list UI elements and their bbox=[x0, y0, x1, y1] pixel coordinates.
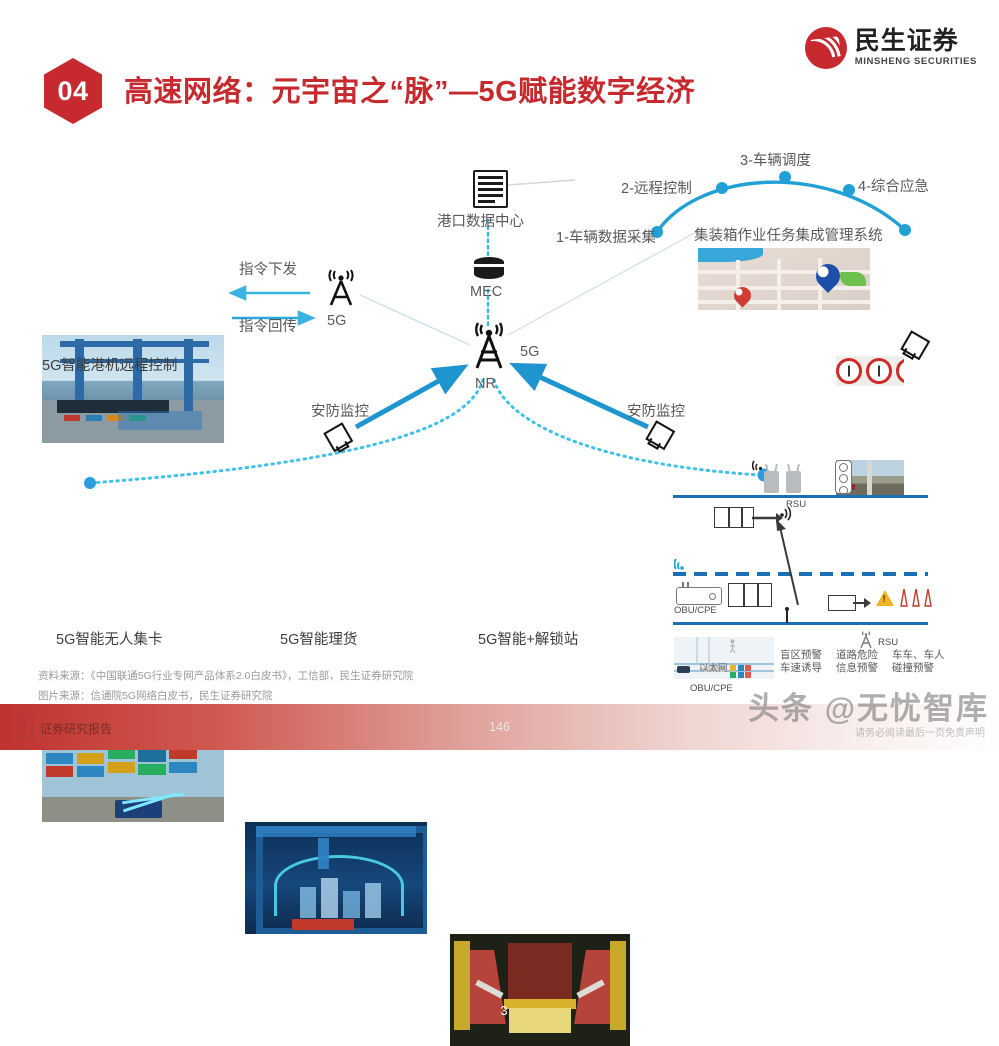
logo-english-name: MINSHENG SECURITIES bbox=[855, 57, 977, 67]
warning-column-2: 道路危险 信息预警 bbox=[836, 649, 878, 675]
warning-1-line-2: 车速诱导 bbox=[780, 662, 822, 675]
crane-caption: 5G智能港机远程控制 bbox=[42, 354, 177, 375]
watermark: 头条 @无忧智库 bbox=[748, 683, 989, 728]
company-logo: 民生证券 MINSHENG SECURITIES bbox=[805, 27, 977, 69]
warning-column-1: 盲区预警 车速诱导 bbox=[780, 649, 822, 675]
no-right-turn-sign-icon bbox=[866, 358, 892, 384]
command-down-label: 指令下发 bbox=[239, 258, 297, 279]
warning-1-line-1: 盲区预警 bbox=[780, 649, 822, 662]
section-number: 04 bbox=[57, 76, 88, 107]
warning-2-line-1: 道路危险 bbox=[836, 649, 878, 662]
ethernet-label: 以太网 bbox=[699, 660, 728, 674]
warning-3-line-1: 车车、车人 bbox=[892, 649, 945, 662]
warning-2-line-2: 信息预警 bbox=[836, 662, 878, 675]
small-vehicle-icon bbox=[828, 595, 856, 611]
v2x-road-top bbox=[673, 495, 928, 498]
logo-text: 民生证券 MINSHENG SECURITIES bbox=[855, 29, 977, 67]
rsu-bottom-label: RSU bbox=[878, 637, 898, 648]
unlock-overlay-number: 3 bbox=[500, 1003, 507, 1018]
rsu-unit-1-icon bbox=[764, 471, 779, 493]
antenna-icon bbox=[322, 267, 360, 309]
traffic-signs-photo bbox=[836, 356, 904, 386]
cell-tower-icon bbox=[466, 322, 512, 372]
surveillance-right-label: 安防监控 bbox=[627, 400, 685, 421]
unlock-caption: 5G智能+解锁站 bbox=[478, 628, 578, 649]
truck-caption: 5G智能无人集卡 bbox=[56, 628, 162, 649]
v2x-lane-divider bbox=[673, 572, 928, 576]
data-center-label: 港口数据中心 bbox=[437, 210, 524, 231]
no-parking-sign-icon bbox=[896, 358, 904, 384]
v2x-diagram: RSU OBU/CPE bbox=[668, 455, 968, 665]
warning-column-3: 车车、车人 碰撞预警 bbox=[892, 649, 945, 675]
nr-5g-label: 5G bbox=[520, 344, 539, 360]
logo-chinese-name: 民生证券 bbox=[855, 29, 977, 54]
arc-node-3-label: 3-车辆调度 bbox=[740, 149, 811, 170]
arc-node-1-label: 1-车辆数据采集 bbox=[556, 226, 656, 247]
warning-3-line-2: 碰撞预警 bbox=[892, 662, 945, 675]
warning-triangle-icon bbox=[876, 590, 894, 606]
surveillance-left-label: 安防监控 bbox=[311, 400, 369, 421]
port-crane-photo bbox=[42, 335, 224, 443]
minsheng-logo-icon bbox=[805, 27, 847, 69]
server-icon bbox=[473, 170, 508, 208]
sign-row bbox=[836, 358, 904, 384]
vehicle-bottom-icon bbox=[728, 583, 772, 607]
page-title: 高速网络：元宇宙之“脉”—5G赋能数字经济 bbox=[124, 68, 695, 110]
inset-pedestrian-icon bbox=[728, 639, 737, 653]
pedestrian-detect-arrow bbox=[774, 517, 800, 609]
nr-label: NR bbox=[475, 376, 496, 392]
traffic-light-icon bbox=[835, 460, 852, 494]
mec-label: MEC bbox=[470, 284, 502, 300]
unlock-station-photo: 3 bbox=[450, 934, 630, 1046]
map-thumbnail bbox=[698, 248, 870, 310]
hazard-cones-icon bbox=[900, 589, 932, 607]
rsu-unit-2-icon bbox=[786, 471, 801, 493]
obu-wifi-icon bbox=[674, 558, 690, 571]
section-number-badge: 04 bbox=[44, 58, 102, 124]
obu-device-icon bbox=[676, 587, 722, 605]
arc-node-4-label: 4-综合应急 bbox=[858, 175, 929, 196]
source-line-2: 图片来源：信通院5G网络白皮书，民生证券研究院 bbox=[38, 688, 273, 703]
small-vehicle-arrow bbox=[853, 597, 871, 609]
command-up-label: 指令回传 bbox=[239, 315, 297, 336]
left-tower-5g-label: 5G bbox=[327, 313, 346, 329]
rsu-tower-icon bbox=[858, 631, 874, 649]
slide: 04 高速网络：元宇宙之“脉”—5G赋能数字经济 民生证券 MINSHENG S… bbox=[0, 0, 999, 750]
vehicle-top-icon bbox=[714, 507, 754, 528]
database-icon bbox=[474, 257, 504, 281]
watermark-subtext: 请务必阅读最后一页免责声明 bbox=[855, 724, 985, 739]
tally-caption: 5G智能理货 bbox=[280, 628, 357, 649]
obu-left-label: OBU/CPE bbox=[674, 605, 717, 616]
obu-bottom-label: OBU/CPE bbox=[690, 683, 733, 694]
no-entry-sign-icon bbox=[836, 358, 862, 384]
v2x-road-bottom bbox=[673, 622, 928, 625]
wifi-signal-icon bbox=[752, 459, 766, 471]
pedestrian-icon bbox=[782, 607, 791, 623]
arc-node-2-label: 2-远程控制 bbox=[621, 177, 692, 198]
blue-crane-photo bbox=[245, 822, 427, 934]
source-line-1: 资料来源：《中国联通5G行业专网产品体系2.0白皮书》，工信部，民生证券研究院 bbox=[38, 668, 413, 683]
arc-system-label: 集装箱作业任务集成管理系统 bbox=[694, 224, 883, 245]
